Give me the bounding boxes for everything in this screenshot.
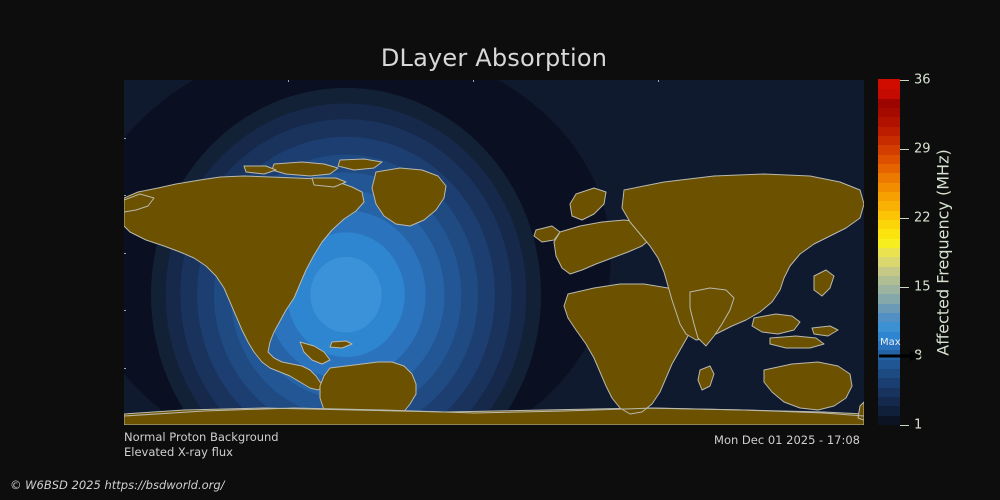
graticule-latitude--30 <box>124 310 864 311</box>
colorbar-segment-36 <box>878 79 900 89</box>
credit-line: © W6BSD 2025 https://bsdworld.org/ <box>10 478 225 492</box>
colorbar-tick-label-22: 22 <box>914 211 931 226</box>
status-text: Normal Proton Background Elevated X-ray … <box>124 430 279 460</box>
colorbar-tick-label-15: 15 <box>914 280 931 295</box>
colorbar-segment-29 <box>878 145 900 155</box>
colorbar-segment-18 <box>878 247 900 257</box>
colorbar-segment-31 <box>878 126 900 136</box>
graticule-latitude-0 <box>124 253 864 254</box>
colorbar-segment-24 <box>878 191 900 201</box>
colorbar-segment-20 <box>878 229 900 239</box>
colorbar-segment-2 <box>878 396 900 406</box>
colorbar-axis-label-text: Affected Frequency (MHz) <box>934 149 953 355</box>
colorbar-axis-label: Affected Frequency (MHz) <box>930 80 956 425</box>
colorbar-segment-19 <box>878 238 900 248</box>
graticule-longitude-0 <box>473 80 474 425</box>
colorbar-segment-32 <box>878 117 900 127</box>
colorbar-segment-35 <box>878 89 900 99</box>
graticule-longitude--90 <box>288 80 289 425</box>
colorbar-segment-15 <box>878 275 900 285</box>
colorbar-tick-mark-1 <box>900 425 909 426</box>
colorbar-segment-10 <box>878 322 900 332</box>
status-line-xray: Elevated X-ray flux <box>124 445 279 460</box>
colorbar-segment-30 <box>878 135 900 145</box>
colorbar-segment-11 <box>878 313 900 323</box>
colorbar-segment-13 <box>878 294 900 304</box>
colorbar[interactable] <box>878 80 900 425</box>
colorbar-segment-3 <box>878 387 900 397</box>
colorbar-segment-33 <box>878 107 900 117</box>
graticule-latitude--60 <box>124 368 864 369</box>
colorbar-segment-1 <box>878 406 900 416</box>
colorbar-tick-mark-29 <box>900 149 909 150</box>
timestamp: Mon Dec 01 2025 - 17:08 <box>714 433 860 447</box>
colorbar-segment-21 <box>878 219 900 229</box>
colorbar-segment-0 <box>878 415 900 425</box>
graticule-longitude-90 <box>658 80 659 425</box>
page-title: DLayer Absorption <box>0 44 988 72</box>
max-marker-label: Max <box>880 337 901 348</box>
colorbar-segment-16 <box>878 266 900 276</box>
colorbar-segment-14 <box>878 285 900 295</box>
colorbar-segment-17 <box>878 257 900 267</box>
colorbar-segment-25 <box>878 182 900 192</box>
status-line-proton: Normal Proton Background <box>124 430 279 445</box>
colorbar-tick-label-29: 29 <box>914 142 931 157</box>
absorption-ring-level-10 <box>310 257 381 333</box>
graticule-latitude-30 <box>124 195 864 196</box>
graticule-latitude-60 <box>124 138 864 139</box>
colorbar-segment-26 <box>878 173 900 183</box>
dlayer-absorption-plot: DLayer Absorption <box>0 0 1000 500</box>
max-arrow-icon <box>878 350 922 362</box>
colorbar-tick-mark-22 <box>900 218 909 219</box>
colorbar-tick-mark-36 <box>900 80 909 81</box>
colorbar-tick-mark-15 <box>900 287 909 288</box>
colorbar-segment-27 <box>878 163 900 173</box>
colorbar-tick-label-36: 36 <box>914 73 931 88</box>
colorbar-segment-22 <box>878 210 900 220</box>
colorbar-segment-5 <box>878 368 900 378</box>
colorbar-tick-label-1: 1 <box>914 418 922 433</box>
max-marker: Max <box>878 337 924 363</box>
colorbar-segment-4 <box>878 378 900 388</box>
colorbar-segment-34 <box>878 98 900 108</box>
colorbar-segment-28 <box>878 154 900 164</box>
world-map-panel[interactable] <box>124 80 864 425</box>
colorbar-segment-23 <box>878 201 900 211</box>
colorbar-segment-12 <box>878 303 900 313</box>
